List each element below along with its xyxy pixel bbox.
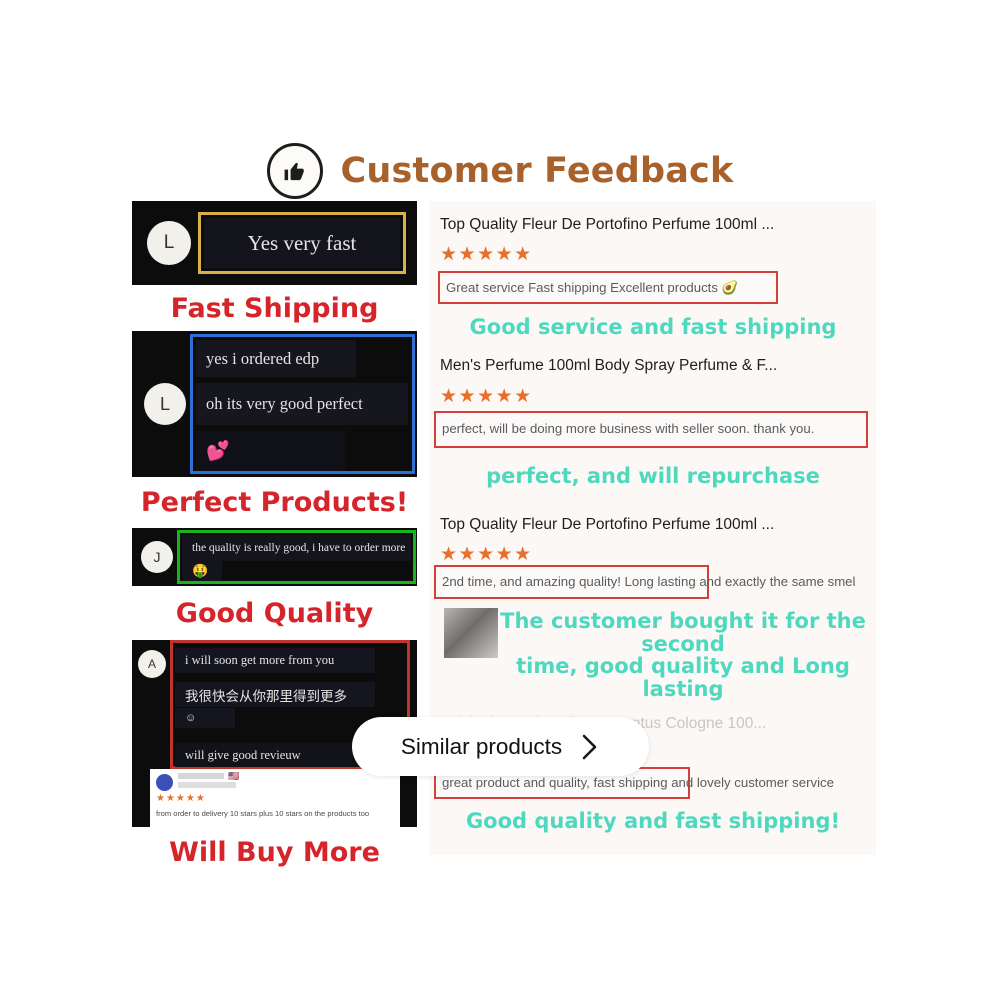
review-date-redacted xyxy=(178,782,236,788)
chat-message: the quality is really good, i have to or… xyxy=(182,535,411,561)
amazon-review-card: 🇺🇸 ★★★★★ from order to delivery 10 stars… xyxy=(150,769,400,827)
avatar: A xyxy=(138,650,166,678)
chevron-right-icon xyxy=(580,732,600,762)
chat-message: Yes very fast xyxy=(204,218,400,268)
review-text: Great service Fast shipping Excellent pr… xyxy=(446,280,738,296)
star-rating: ★★★★★ xyxy=(440,245,533,264)
star-rating: ★★★★★ xyxy=(440,387,533,406)
caption-perfect-repurchase: perfect, and will repurchase xyxy=(430,465,876,488)
star-rating: ★★★★★ xyxy=(440,545,533,564)
similar-products-label: Similar products xyxy=(401,734,562,760)
chat-message-emoji: 💕 xyxy=(196,431,346,471)
review-card-1: Top Quality Fleur De Portofino Perfume 1… xyxy=(430,201,876,345)
chat-message: yes i ordered edp xyxy=(196,340,356,377)
chat-message-emoji: ☺ xyxy=(175,708,235,728)
product-title[interactable]: Top Quality Fleur De Portofino Perfume 1… xyxy=(440,216,774,234)
avatar: L xyxy=(147,221,191,265)
caption-will-buy-more: Will Buy More xyxy=(132,827,417,875)
caption-second-purchase: The customer bought it for the second ti… xyxy=(490,610,876,701)
review-text: great product and quality, fast shipping… xyxy=(442,775,834,790)
thumbs-up-icon xyxy=(267,143,323,199)
review-text: from order to delivery 10 stars plus 10 … xyxy=(156,809,369,818)
chat-message: i will soon get more from you xyxy=(175,648,375,673)
avatar: L xyxy=(144,383,186,425)
caption-good-service: Good service and fast shipping xyxy=(430,316,876,339)
chat-message: oh its very good perfect xyxy=(196,383,408,425)
caption-good-quality-shipping: Good quality and fast shipping! xyxy=(430,810,876,833)
flag-icon: 🇺🇸 xyxy=(228,771,239,782)
avatar: J xyxy=(141,541,173,573)
chat-screenshot-fast-shipping: L Yes very fast xyxy=(132,201,417,285)
reviewer-name-redacted xyxy=(178,773,224,779)
caption-fast-shipping: Fast Shipping xyxy=(132,285,417,331)
page-title: Customer Feedback xyxy=(341,151,734,191)
review-card-3: Top Quality Fleur De Portofino Perfume 1… xyxy=(430,510,876,705)
caption-line-2: time, good quality and Long lasting xyxy=(516,654,850,701)
product-title[interactable]: Top Quality Fleur De Portofino Perfume 1… xyxy=(440,516,774,534)
chat-screenshot-good-quality: J the quality is really good, i have to … xyxy=(132,528,417,586)
reviewer-avatar xyxy=(156,774,173,791)
chat-message-emoji: 🤑 xyxy=(182,561,222,581)
caption-line-1: The customer bought it for the second xyxy=(500,609,866,656)
review-text: 2nd time, and amazing quality! Long last… xyxy=(442,574,855,589)
page-header: Customer Feedback xyxy=(0,143,1000,199)
review-card-2: Men's Perfume 100ml Body Spray Perfume &… xyxy=(430,345,876,510)
amazon-review-card-wrapper: 🇺🇸 ★★★★★ from order to delivery 10 stars… xyxy=(132,769,417,827)
chat-message-chinese: 我很快会从你那里得到更多 xyxy=(175,682,375,707)
review-stars: ★★★★★ xyxy=(156,793,206,804)
caption-perfect-products: Perfect Products! xyxy=(132,477,417,528)
chat-message: will give good revieuw xyxy=(175,743,375,767)
similar-products-button[interactable]: Similar products xyxy=(352,717,649,776)
chat-screenshot-perfect-products: L yes i ordered edp oh its very good per… xyxy=(132,331,417,477)
product-title[interactable]: Men's Perfume 100ml Body Spray Perfume &… xyxy=(440,357,777,375)
review-text: perfect, will be doing more business wit… xyxy=(442,421,814,436)
feedback-page: Customer Feedback L Yes very fast Fast S… xyxy=(0,0,1000,1000)
caption-good-quality: Good Quality xyxy=(132,586,417,640)
